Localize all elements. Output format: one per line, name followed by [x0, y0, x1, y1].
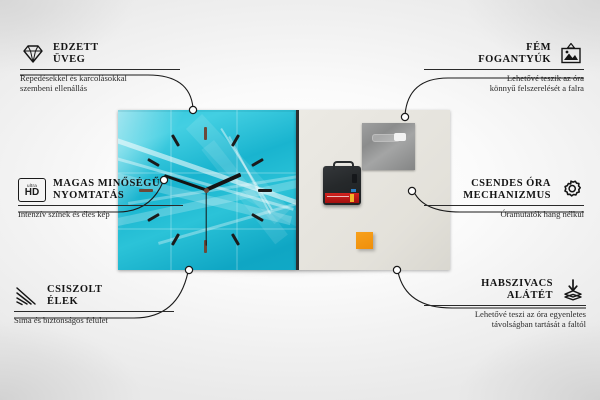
callout-subtitle-line2: távolságban tartását a faltól: [424, 319, 586, 329]
callout-title: CSENDES ÓRA MECHANIZMUS: [463, 178, 551, 202]
diamond-icon: [20, 42, 46, 66]
callout-title: HABSZIVACS ALÁTÉT: [481, 278, 553, 302]
callout-divider: [20, 69, 180, 70]
callout-title: MAGAS MINŐSÉGŰ NYOMTATÁS: [53, 178, 160, 202]
callout-subtitle-line1: Óramutatók hang nélkül: [424, 209, 584, 219]
callout-subtitle-line1: Intenzív színek és éles kép: [18, 209, 183, 219]
callout-subtitle-line2: szembeni ellenállás: [20, 83, 180, 93]
callout-hd-print: ultra HD MAGAS MINŐSÉGŰ NYOMTATÁS Intenz…: [18, 178, 183, 219]
callout-header: FÉM FOGANTYÚK: [424, 42, 584, 66]
callout-subtitle-line2: könnyű felszerelését a falra: [424, 83, 584, 93]
callout-header: HABSZIVACS ALÁTÉT: [424, 278, 586, 302]
callout-divider: [18, 205, 183, 206]
callout-title: CSISZOLT ÉLEK: [47, 284, 103, 308]
foam-layers-arrow-icon: [560, 278, 586, 302]
polished-edge-icon: [14, 284, 40, 308]
callout-divider: [424, 305, 586, 306]
callout-title: FÉM FOGANTYÚK: [478, 42, 551, 66]
gear-icon: [558, 178, 584, 202]
callout-subtitle-line1: Lehetővé teszi az óra egyenletes: [424, 309, 586, 319]
callout-divider: [424, 69, 584, 70]
callout-subtitle-line1: Sima és biztonságos felület: [14, 315, 174, 325]
callout-subtitle-line1: Repedésekkel és karcolásokkal: [20, 73, 180, 83]
callout-title: EDZETT ÜVEG: [53, 42, 99, 66]
callout-silent-mechanism: CSENDES ÓRA MECHANIZMUS Óramutatók hang …: [424, 178, 584, 219]
callout-header: ultra HD MAGAS MINŐSÉGŰ NYOMTATÁS: [18, 178, 183, 202]
infographic-canvas: EDZETT ÜVEG Repedésekkel és karcolásokka…: [0, 0, 600, 400]
callout-metal-handles: FÉM FOGANTYÚK Lehetővé teszik az óra kön…: [424, 42, 584, 94]
callout-header: EDZETT ÜVEG: [20, 42, 180, 66]
callout-foam-pad: HABSZIVACS ALÁTÉT Lehetővé teszi az óra …: [424, 278, 586, 330]
wall-frame-icon: [558, 42, 584, 66]
callout-header: CSISZOLT ÉLEK: [14, 284, 174, 308]
callout-divider: [14, 311, 174, 312]
callout-header: CSENDES ÓRA MECHANIZMUS: [424, 178, 584, 202]
ultra-hd-icon: ultra HD: [18, 178, 46, 202]
callout-divider: [424, 205, 584, 206]
callout-tempered-glass: EDZETT ÜVEG Repedésekkel és karcolásokka…: [20, 42, 180, 94]
callout-subtitle-line1: Lehetővé teszik az óra: [424, 73, 584, 83]
ultra-hd-icon-large-text: HD: [25, 188, 39, 198]
callout-polished-edges: CSISZOLT ÉLEK Sima és biztonságos felüle…: [14, 284, 174, 325]
